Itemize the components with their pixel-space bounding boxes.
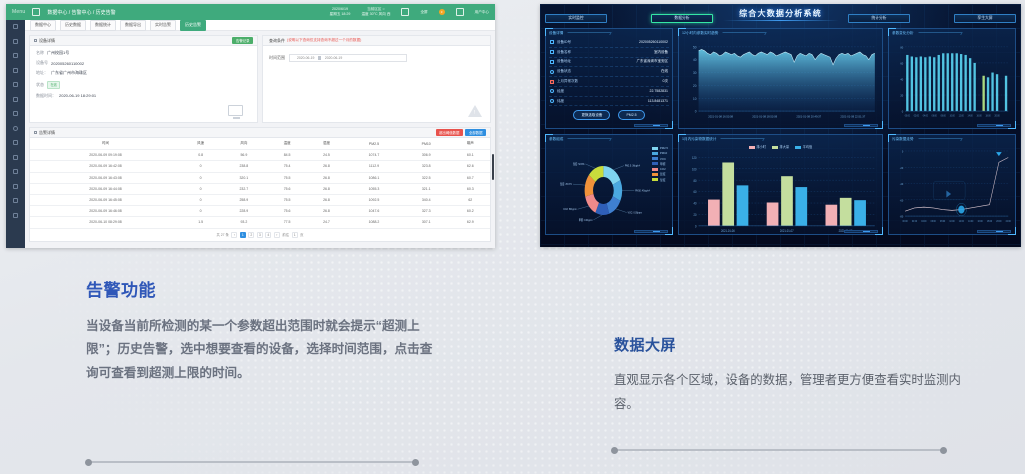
svg-text:40: 40 xyxy=(694,201,697,205)
sidebar-chart-icon[interactable] xyxy=(13,111,18,116)
title-decoration xyxy=(720,138,766,141)
title-decoration xyxy=(722,32,768,35)
table-cell: 1074.7 xyxy=(346,150,402,161)
title-underline xyxy=(723,20,839,21)
svg-text:-60: -60 xyxy=(900,198,904,202)
table-cell: 1112.9 xyxy=(346,161,402,172)
bar-chart: 02040608000:0002:0004:0006:0008:0010:001… xyxy=(892,38,1012,131)
parameter-composition-panel: 参数组成 PM2.5PM10VOC甲醛CO2温度湿度 PM2.5: 36ug/m… xyxy=(545,134,673,235)
dashboard-inner: 实时监控 数据分析 综合大数据分析系统 统计分析 孪生大屏 设备详情 设备ID号… xyxy=(540,4,1021,247)
device-info-row: 状态 在线 xyxy=(36,81,251,89)
panel-scroll-indicator[interactable] xyxy=(977,124,1011,127)
table-cell: 26.8 xyxy=(307,206,346,217)
area-panel-title: 12小时内参数实时趋势 xyxy=(682,31,718,36)
device-attribute-key: 纬度 xyxy=(557,99,564,104)
svg-text:02:00: 02:00 xyxy=(914,116,920,118)
legend-label: 甲醛 xyxy=(660,162,666,166)
topbar-right: 2020/6/19 星期五 18:29 当前区区 ○ 温度 30°C 风向 西 … xyxy=(330,7,489,17)
all-data-button[interactable]: 全部数据 xyxy=(465,129,486,137)
legend-item: VOC xyxy=(652,157,668,161)
table-cell: 327.3 xyxy=(402,206,451,217)
table-cell: 75.5 xyxy=(267,172,306,183)
sidebar-home-icon[interactable] xyxy=(13,24,18,29)
table-cell: 60.2 xyxy=(451,206,490,217)
table-cell: 307.1 xyxy=(402,217,451,228)
device-attribute-value: 0次 xyxy=(663,79,668,84)
page-button-1[interactable]: 1 xyxy=(240,232,246,238)
table-cell: 0 xyxy=(181,194,220,205)
group-panel-title-row: 1月内污染物数据统计 xyxy=(682,137,879,142)
alarm-detail-table-panel: 告警详情 超出阈值数据 全部数据 时间风速风向温度湿度PM2.5PM10噪声 2… xyxy=(29,127,491,242)
svg-text:06:00: 06:00 xyxy=(932,116,938,118)
weather-chip: 当前区区 ○ 温度 30°C 风向 西 xyxy=(361,7,390,17)
time-range-label: 时间范围 xyxy=(269,55,285,61)
nav-tab-2[interactable]: 数据统计 xyxy=(90,20,116,31)
change-device-button[interactable]: 更换选取设备 xyxy=(573,110,610,120)
date-range-separator-icon xyxy=(318,56,321,60)
table-cell: 93.2 xyxy=(220,217,267,228)
svg-text:08:00: 08:00 xyxy=(941,116,947,118)
table-cell: 306.9 xyxy=(402,150,451,161)
svg-text:08:00: 08:00 xyxy=(940,221,946,223)
svg-text:00:00: 00:00 xyxy=(905,116,911,118)
nav-tab-1[interactable]: 历史数据 xyxy=(60,20,86,31)
dashboard-feature-body: 直观显示各个区域，设备的数据，管理者更方便查看实时监测内容。 xyxy=(614,369,970,416)
table-row[interactable]: 2020-06-09 16:43:080320.175.526.81086.13… xyxy=(30,172,490,183)
table-cell: 0 xyxy=(181,161,220,172)
device-info-key: 状态 xyxy=(36,82,44,88)
table-cell: 1092.5 xyxy=(346,194,402,205)
donut-legend: PM2.5PM10VOC甲醛CO2温度湿度 xyxy=(652,146,668,182)
nav-tab-5[interactable]: 历史告警 xyxy=(180,20,206,31)
device-attribute-key: 设备地址 xyxy=(557,59,571,64)
svg-text:16:00: 16:00 xyxy=(977,116,983,118)
device-attribute-list: 设备ID号202005260110002设备名称室内设备设备地址广东省深圳市宝安… xyxy=(549,38,669,106)
page-button-2[interactable]: 2 xyxy=(248,232,254,238)
line-panel-title: 污染数据走势 xyxy=(892,137,914,142)
table-cell: 1.5 xyxy=(181,217,220,228)
legend-label: 温度 xyxy=(660,172,666,176)
device-info-row: 地址： 广东省广州市海珠区 xyxy=(36,70,251,76)
big-data-dashboard-screenshot: 实时监控 数据分析 综合大数据分析系统 统计分析 孪生大屏 设备详情 设备ID号… xyxy=(540,4,1021,247)
date-start-value: 2020-06-19 xyxy=(297,56,314,60)
device-detail-header: 设备详情 告警记录 xyxy=(30,36,257,46)
table-cell: 232.7 xyxy=(220,183,267,194)
table-cell: 77.5 xyxy=(267,217,306,228)
svg-text:22:00: 22:00 xyxy=(1006,221,1012,223)
device-attribute-value: 室内设备 xyxy=(654,50,668,55)
svg-text:20:00: 20:00 xyxy=(994,116,1000,118)
svg-text:120: 120 xyxy=(692,156,697,160)
table-cell: 0 xyxy=(181,183,220,194)
table-cell: 2020-06-09 16:42:08 xyxy=(30,161,181,172)
panel-scroll-indicator[interactable] xyxy=(634,124,668,127)
svg-text:0: 0 xyxy=(695,110,697,114)
table-header-row: 时间风速风向温度湿度PM2.5PM10噪声 xyxy=(30,138,490,150)
device-attribute-row: 设备状态在线 xyxy=(549,67,669,77)
table-cell: 340.4 xyxy=(402,194,451,205)
nav-tab-0[interactable]: 数据中心 xyxy=(30,20,56,31)
monitor-illustration-icon xyxy=(228,105,243,116)
panel-square-icon xyxy=(34,131,37,134)
sidebar-status-icon[interactable] xyxy=(13,126,18,131)
device-info-key: 设备号 xyxy=(36,60,48,66)
title-decoration xyxy=(567,138,613,141)
query-header: 查询条件 (说明以下查询仅支持查询不超过一个月的数据) xyxy=(263,36,490,46)
table-header-cell: 风向 xyxy=(220,138,267,150)
dashboard-feature-text-block: 数据大屏 直观显示各个区域，设备的数据，管理者更方便查看实时监测内容。 xyxy=(614,334,970,416)
device-info-list: 名称 广州校园1号 设备号 202005260110002 地址： 广东省广州市… xyxy=(30,46,257,122)
query-body: 时间范围 2020-06-19 2020-06-19 xyxy=(263,46,490,122)
svg-text:12:00: 12:00 xyxy=(959,221,965,223)
parameter-change-panel: 参数变化分析 02040608000:0002:0004:0006:0008:0… xyxy=(888,28,1016,129)
device-attribute-row: 设备名称室内设备 xyxy=(549,48,669,58)
svg-text:40: 40 xyxy=(693,58,697,62)
collapse-icon[interactable] xyxy=(32,8,40,16)
warning-illustration-icon xyxy=(468,105,482,117)
device-info-key: 名称 xyxy=(36,50,44,56)
table-cell: 238.8 xyxy=(220,161,267,172)
legend-item: PM2.5 xyxy=(652,146,668,150)
table-cell: 62 xyxy=(451,194,490,205)
sidebar-monitor-icon[interactable] xyxy=(13,169,18,174)
legend-label: PM2.5 xyxy=(660,146,668,150)
table-cell: 321.1 xyxy=(402,183,451,194)
status-badge: 在线 xyxy=(47,81,60,89)
alarm-table-header: 告警详情 超出阈值数据 全部数据 xyxy=(30,128,490,138)
svg-text:60: 60 xyxy=(900,61,903,65)
table-header-cell: 风速 xyxy=(181,138,220,150)
svg-text:14:00: 14:00 xyxy=(968,221,974,223)
device-attribute-key: 上月异常次数 xyxy=(557,79,578,84)
svg-text:温度: 25.6°C: 温度: 25.6°C xyxy=(560,182,572,186)
sidebar-user-icon[interactable] xyxy=(13,184,18,189)
donut-panel-title: 参数组成 xyxy=(549,137,563,142)
svg-text:04:00: 04:00 xyxy=(921,221,927,223)
svg-text:20: 20 xyxy=(900,93,903,97)
tag-icon xyxy=(550,50,554,54)
table-cell: 56.9 xyxy=(220,150,267,161)
device-attribute-value: 广东省深圳市宝安区 xyxy=(637,59,669,64)
bar-panel-title-row: 参数变化分析 xyxy=(892,31,1012,36)
svg-text:2021-01-08 22:51:37: 2021-01-08 22:51:37 xyxy=(840,115,865,119)
svg-text:14:00: 14:00 xyxy=(968,116,974,118)
svg-text:2021-01-08 18:53:08: 2021-01-08 18:53:08 xyxy=(752,115,777,119)
legend-item: PM10 xyxy=(652,151,668,155)
table-cell: 2020-06-09 16:45:08 xyxy=(30,194,181,205)
page-button-4[interactable]: 4 xyxy=(265,232,271,238)
svg-text:60: 60 xyxy=(694,190,697,194)
table-cell: 62.6 xyxy=(451,161,490,172)
panel-scroll-indicator[interactable] xyxy=(977,230,1011,233)
legend-label: VOC xyxy=(660,157,666,161)
table-cell: 2020-06-09 16:44:08 xyxy=(30,183,181,194)
menu-label[interactable]: Menu xyxy=(12,9,25,15)
panel-square-icon xyxy=(34,39,37,42)
table-cell: 60.1 xyxy=(451,150,490,161)
nav-tab-4[interactable]: 实时告警 xyxy=(150,20,176,31)
device-info-value: 广东省广州市海珠区 xyxy=(51,70,87,76)
user-center-label[interactable]: 用户中心 xyxy=(475,10,489,15)
area-chart: 010203040502021-01-08 16:53:082021-01-08… xyxy=(682,38,879,131)
table-cell: 26.8 xyxy=(307,172,346,183)
svg-text:CO2: 501ppm: CO2: 501ppm xyxy=(563,208,576,211)
datetime-chip: 2020/6/19 星期五 18:29 xyxy=(330,7,351,17)
table-cell: 26.8 xyxy=(307,161,346,172)
table-cell: 323.8 xyxy=(402,161,451,172)
svg-text:0: 0 xyxy=(695,224,697,228)
datetime-label: 2020/6/19 xyxy=(332,7,348,11)
svg-text:50: 50 xyxy=(693,45,697,49)
device-info-row: 设备号 202005260110002 xyxy=(36,60,251,66)
alarm-management-screenshot: Menu 数据中心 / 告警中心 / 历史告警 2020/6/19 星期五 18… xyxy=(6,4,495,248)
legend-label: PM10 xyxy=(660,151,667,155)
query-title: 查询条件 xyxy=(269,38,285,44)
table-row[interactable]: 2020-06-09 16:46:080228.975.626.81047.63… xyxy=(30,206,490,217)
svg-text:2021-01-08 16:53:08: 2021-01-08 16:53:08 xyxy=(708,115,733,119)
svg-text:10: 10 xyxy=(693,97,697,101)
device-action-buttons: 更换选取设备 PM2.5 xyxy=(549,110,669,120)
user-avatar-icon[interactable] xyxy=(456,8,464,16)
table-row[interactable]: 2020-06-10 08:29:081.593.277.524.71088.2… xyxy=(30,217,490,228)
device-attribute-key: 经度 xyxy=(557,89,564,94)
line-chart: 0-20-40-60-8000:0002:0004:0006:0008:0010… xyxy=(892,144,1012,237)
device-info-key: 数据时间： xyxy=(36,93,56,99)
region-label: 当前区区 ○ xyxy=(367,7,385,11)
alert-badge[interactable]: 3 xyxy=(439,9,445,15)
table-row[interactable]: 2020-06-09 09:19:080.856.984.524.51074.7… xyxy=(30,150,490,161)
table-cell: 60.3 xyxy=(451,183,490,194)
page-next-button[interactable]: › xyxy=(274,232,280,238)
svg-text:甲醛: 0.01ppm: 甲醛: 0.01ppm xyxy=(579,217,593,221)
svg-text:80: 80 xyxy=(694,179,697,183)
query-note: (说明以下查询仅支持查询不超过一个月的数据) xyxy=(287,38,361,43)
legend-item: 温度 xyxy=(652,172,668,176)
table-cell: 1088.2 xyxy=(346,217,402,228)
alert-icon xyxy=(550,80,554,84)
svg-text:PM10: 45ug/m³: PM10: 45ug/m³ xyxy=(635,189,650,192)
table-cell: 2020-06-09 09:19:08 xyxy=(30,150,181,161)
table-cell: 62.9 xyxy=(451,217,490,228)
id-card-icon xyxy=(550,40,554,44)
bar-panel-title: 参数变化分析 xyxy=(892,31,914,36)
dashboard-header: 实时监控 数据分析 综合大数据分析系统 统计分析 孪生大屏 xyxy=(545,8,1016,28)
svg-text:20:00: 20:00 xyxy=(996,221,1002,223)
panel-scroll-indicator[interactable] xyxy=(634,230,668,233)
legend-label: 平均值 xyxy=(803,145,813,149)
table-header-cell: PM10 xyxy=(402,138,451,150)
table-row[interactable]: 2020-06-09 16:44:080232.775.626.81055.33… xyxy=(30,183,490,194)
legend-item: 甲醛 xyxy=(652,162,668,166)
fullscreen-icon[interactable] xyxy=(401,8,409,16)
panel-scroll-indicator[interactable] xyxy=(844,124,878,127)
table-header-cell: 温度 xyxy=(267,138,306,150)
table-row[interactable]: 2020-06-09 16:42:080238.875.426.81112.93… xyxy=(30,161,490,172)
dashboard-title: 综合大数据分析系统 xyxy=(545,8,1016,19)
table-header-cell: 时间 xyxy=(30,138,181,150)
svg-text:0: 0 xyxy=(902,109,904,113)
left-icon-sidebar xyxy=(6,20,25,248)
svg-text:100: 100 xyxy=(692,167,697,171)
sidebar-doc-icon[interactable] xyxy=(13,155,18,160)
svg-text:20: 20 xyxy=(693,84,697,88)
table-cell: 75.6 xyxy=(267,206,306,217)
table-cell: 0 xyxy=(181,172,220,183)
table-cell: 2020-06-10 08:29:08 xyxy=(30,217,181,228)
legend-item: 湿度 xyxy=(652,178,668,182)
svg-text:10:00: 10:00 xyxy=(950,116,956,118)
sidebar-settings-icon[interactable] xyxy=(13,213,18,218)
goto-unit-label: 页 xyxy=(300,232,303,237)
sidebar-device-icon[interactable] xyxy=(13,39,18,44)
goto-label: 前往 xyxy=(282,232,289,237)
svg-text:2021-01-06: 2021-01-06 xyxy=(721,229,735,233)
group-panel-title: 1月内污染物数据统计 xyxy=(682,137,716,142)
sidebar-account-icon[interactable] xyxy=(13,198,18,203)
location-icon xyxy=(550,60,554,64)
donut-panel-title-row: 参数组成 xyxy=(549,137,669,142)
device-detail-title: 设备详情 xyxy=(39,38,55,44)
table-cell: 322.5 xyxy=(402,172,451,183)
device-panel-title-row: 设备详情 xyxy=(549,31,669,36)
device-attribute-key: 设备名称 xyxy=(557,50,571,55)
table-cell: 2020-06-09 16:46:08 xyxy=(30,206,181,217)
date-end-value: 2020-06-19 xyxy=(325,56,342,60)
svg-text:20: 20 xyxy=(694,213,697,217)
globe-icon xyxy=(550,99,554,103)
device-detail-card: 设备详情 告警记录 名称 广州校园1号 设备号 202005260110002 xyxy=(29,35,258,123)
table-cell: 75.6 xyxy=(267,183,306,194)
dashboard-middle-column: 12小时内参数实时趋势 010203040502021-01-08 16:53:… xyxy=(678,28,883,235)
device-info-key: 地址： xyxy=(36,70,48,76)
date-range-input[interactable]: 2020-06-19 2020-06-19 xyxy=(289,54,407,62)
page-prev-button[interactable]: ‹ xyxy=(231,232,237,238)
alarm-feature-text-block: 告警功能 当设备当前所检测的某一个参数超出范围时就会提示“超测上限”；历史告警，… xyxy=(86,276,442,385)
pollution-trend-panel: 污染数据走势 0-20-40-60-8000:0002:0004:0006:00… xyxy=(888,134,1016,235)
breadcrumb: 数据中心 / 告警中心 / 历史告警 xyxy=(47,9,115,16)
sidebar-alarm-icon[interactable] xyxy=(13,97,18,102)
alarm-feature-heading: 告警功能 xyxy=(86,276,442,301)
pm25-button[interactable]: PM2.5 xyxy=(618,110,644,120)
area-panel-title-row: 12小时内参数实时趋势 xyxy=(682,31,879,36)
table-cell: 320.1 xyxy=(220,172,267,183)
device-info-row: 名称 广州校园1号 xyxy=(36,50,251,56)
device-attribute-key: 设备状态 xyxy=(557,69,571,74)
device-panel-title: 设备详情 xyxy=(549,31,563,36)
svg-text:04:00: 04:00 xyxy=(923,116,929,118)
svg-text:80: 80 xyxy=(900,45,903,49)
table-cell: 2020-06-09 16:43:08 xyxy=(30,172,181,183)
legend-item: CO2 xyxy=(652,167,668,171)
title-decoration xyxy=(917,138,963,141)
table-cell: 0.8 xyxy=(181,150,220,161)
realtime-trend-panel: 12小时内参数实时趋势 010203040502021-01-08 16:53:… xyxy=(678,28,883,129)
table-cell: 0 xyxy=(181,206,220,217)
svg-text:06:00: 06:00 xyxy=(931,221,937,223)
legend-label: 排小时 xyxy=(756,145,766,149)
svg-text:10:00: 10:00 xyxy=(949,221,955,223)
svg-text:0: 0 xyxy=(902,149,904,153)
table-cell: 26.8 xyxy=(307,194,346,205)
device-attribute-value: 113.8481371 xyxy=(648,99,668,103)
dashboard-feature-heading: 数据大屏 xyxy=(614,334,970,355)
legend-label: 排大量 xyxy=(780,145,790,149)
dashboard-right-column: 参数变化分析 02040608000:0002:0004:0006:0008:0… xyxy=(888,28,1016,235)
table-cell: 1055.3 xyxy=(346,183,402,194)
dashboard-columns: 设备详情 设备ID号202005260110002设备名称室内设备设备地址广东省… xyxy=(545,28,1016,235)
svg-text:湿度: 52.8%: 湿度: 52.8% xyxy=(573,162,585,166)
grouped-bar-legend: 排小时排大量平均值 xyxy=(682,144,879,149)
svg-text:2021-01-07: 2021-01-07 xyxy=(780,229,794,233)
svg-text:18:00: 18:00 xyxy=(985,116,991,118)
sidebar-lock-icon[interactable] xyxy=(13,140,18,145)
legend-label: CO2 xyxy=(660,167,666,171)
panel-scroll-indicator[interactable] xyxy=(844,230,878,233)
legend-label: 湿度 xyxy=(660,178,666,182)
goto-page-input[interactable]: 1 xyxy=(292,232,298,238)
alarm-record-button[interactable]: 告警记录 xyxy=(232,37,253,45)
table-cell: 60.7 xyxy=(451,172,490,183)
tab-digital-twin[interactable]: 孪生大屏 xyxy=(954,14,1016,23)
table-cell: 26.8 xyxy=(307,183,346,194)
sidebar-data-icon[interactable] xyxy=(13,53,18,58)
device-info-row: 数据时间： 2020-06-19 18:29:01 xyxy=(36,93,251,99)
top-panels-row: 设备详情 告警记录 名称 广州校园1号 设备号 202005260110002 xyxy=(29,35,491,123)
table-header-cell: 噪声 xyxy=(451,138,490,150)
device-attribute-key: 设备ID号 xyxy=(557,40,571,45)
device-attribute-row: 纬度113.8481371 xyxy=(549,97,669,107)
svg-text:02:00: 02:00 xyxy=(912,221,918,223)
table-header-cell: PM2.5 xyxy=(346,138,402,150)
date-range-row: 时间范围 2020-06-19 2020-06-19 xyxy=(269,54,484,62)
device-attribute-row: 上月异常次数0次 xyxy=(549,77,669,87)
table-cell: 84.5 xyxy=(267,150,306,161)
alarm-data-table: 时间风速风向温度湿度PM2.5PM10噪声 2020-06-09 09:19:0… xyxy=(30,138,490,229)
device-attribute-value: 22.7582831 xyxy=(650,89,669,93)
query-condition-card: 查询条件 (说明以下查询仅支持查询不超过一个月的数据) 时间范围 2020-06… xyxy=(262,35,491,123)
table-row[interactable]: 2020-06-09 16:45:080258.975.526.81092.53… xyxy=(30,194,490,205)
nav-tab-3[interactable]: 数据导出 xyxy=(120,20,146,31)
weather-value: 温度 30°C 风向 西 xyxy=(361,12,390,16)
svg-text:30: 30 xyxy=(693,71,697,75)
table-cell: 24.5 xyxy=(307,150,346,161)
page-button-3[interactable]: 3 xyxy=(257,232,263,238)
tab-statistics[interactable]: 统计分析 xyxy=(848,14,910,23)
svg-text:-80: -80 xyxy=(900,214,904,218)
table-cell: 228.9 xyxy=(220,206,267,217)
legend-item: 排小时 xyxy=(749,144,766,149)
web-content-body: 设备详情 告警记录 名称 广州校园1号 设备号 202005260110002 xyxy=(25,31,495,248)
svg-text:16:00: 16:00 xyxy=(978,221,984,223)
sidebar-calendar-icon[interactable] xyxy=(13,82,18,87)
divider-right xyxy=(614,449,944,451)
sidebar-report-icon[interactable] xyxy=(13,68,18,73)
threshold-data-button[interactable]: 超出阈值数据 xyxy=(436,129,463,137)
svg-text:12:00: 12:00 xyxy=(959,116,965,118)
device-attribute-row: 设备地址广东省深圳市宝安区 xyxy=(549,58,669,68)
page-scrollbar-thumb[interactable] xyxy=(492,154,495,180)
table-cell: 24.7 xyxy=(307,217,346,228)
device-detail-panel: 设备详情 设备ID号202005260110002设备名称室内设备设备地址广东省… xyxy=(545,28,673,129)
table-cell: 1086.1 xyxy=(346,172,402,183)
clock-icon xyxy=(550,70,554,74)
title-decoration xyxy=(917,32,963,35)
fullscreen-label[interactable]: 全屏 xyxy=(420,10,427,15)
alarm-feature-body: 当设备当前所检测的某一个参数超出范围时就会提示“超测上限”；历史告警，选中想要查… xyxy=(86,315,442,385)
device-attribute-row: 设备ID号202005260110002 xyxy=(549,38,669,48)
table-cell: 75.5 xyxy=(267,194,306,205)
pollutant-stats-panel: 1月内污染物数据统计 排小时排大量平均值 0204060801001202021… xyxy=(678,134,883,235)
